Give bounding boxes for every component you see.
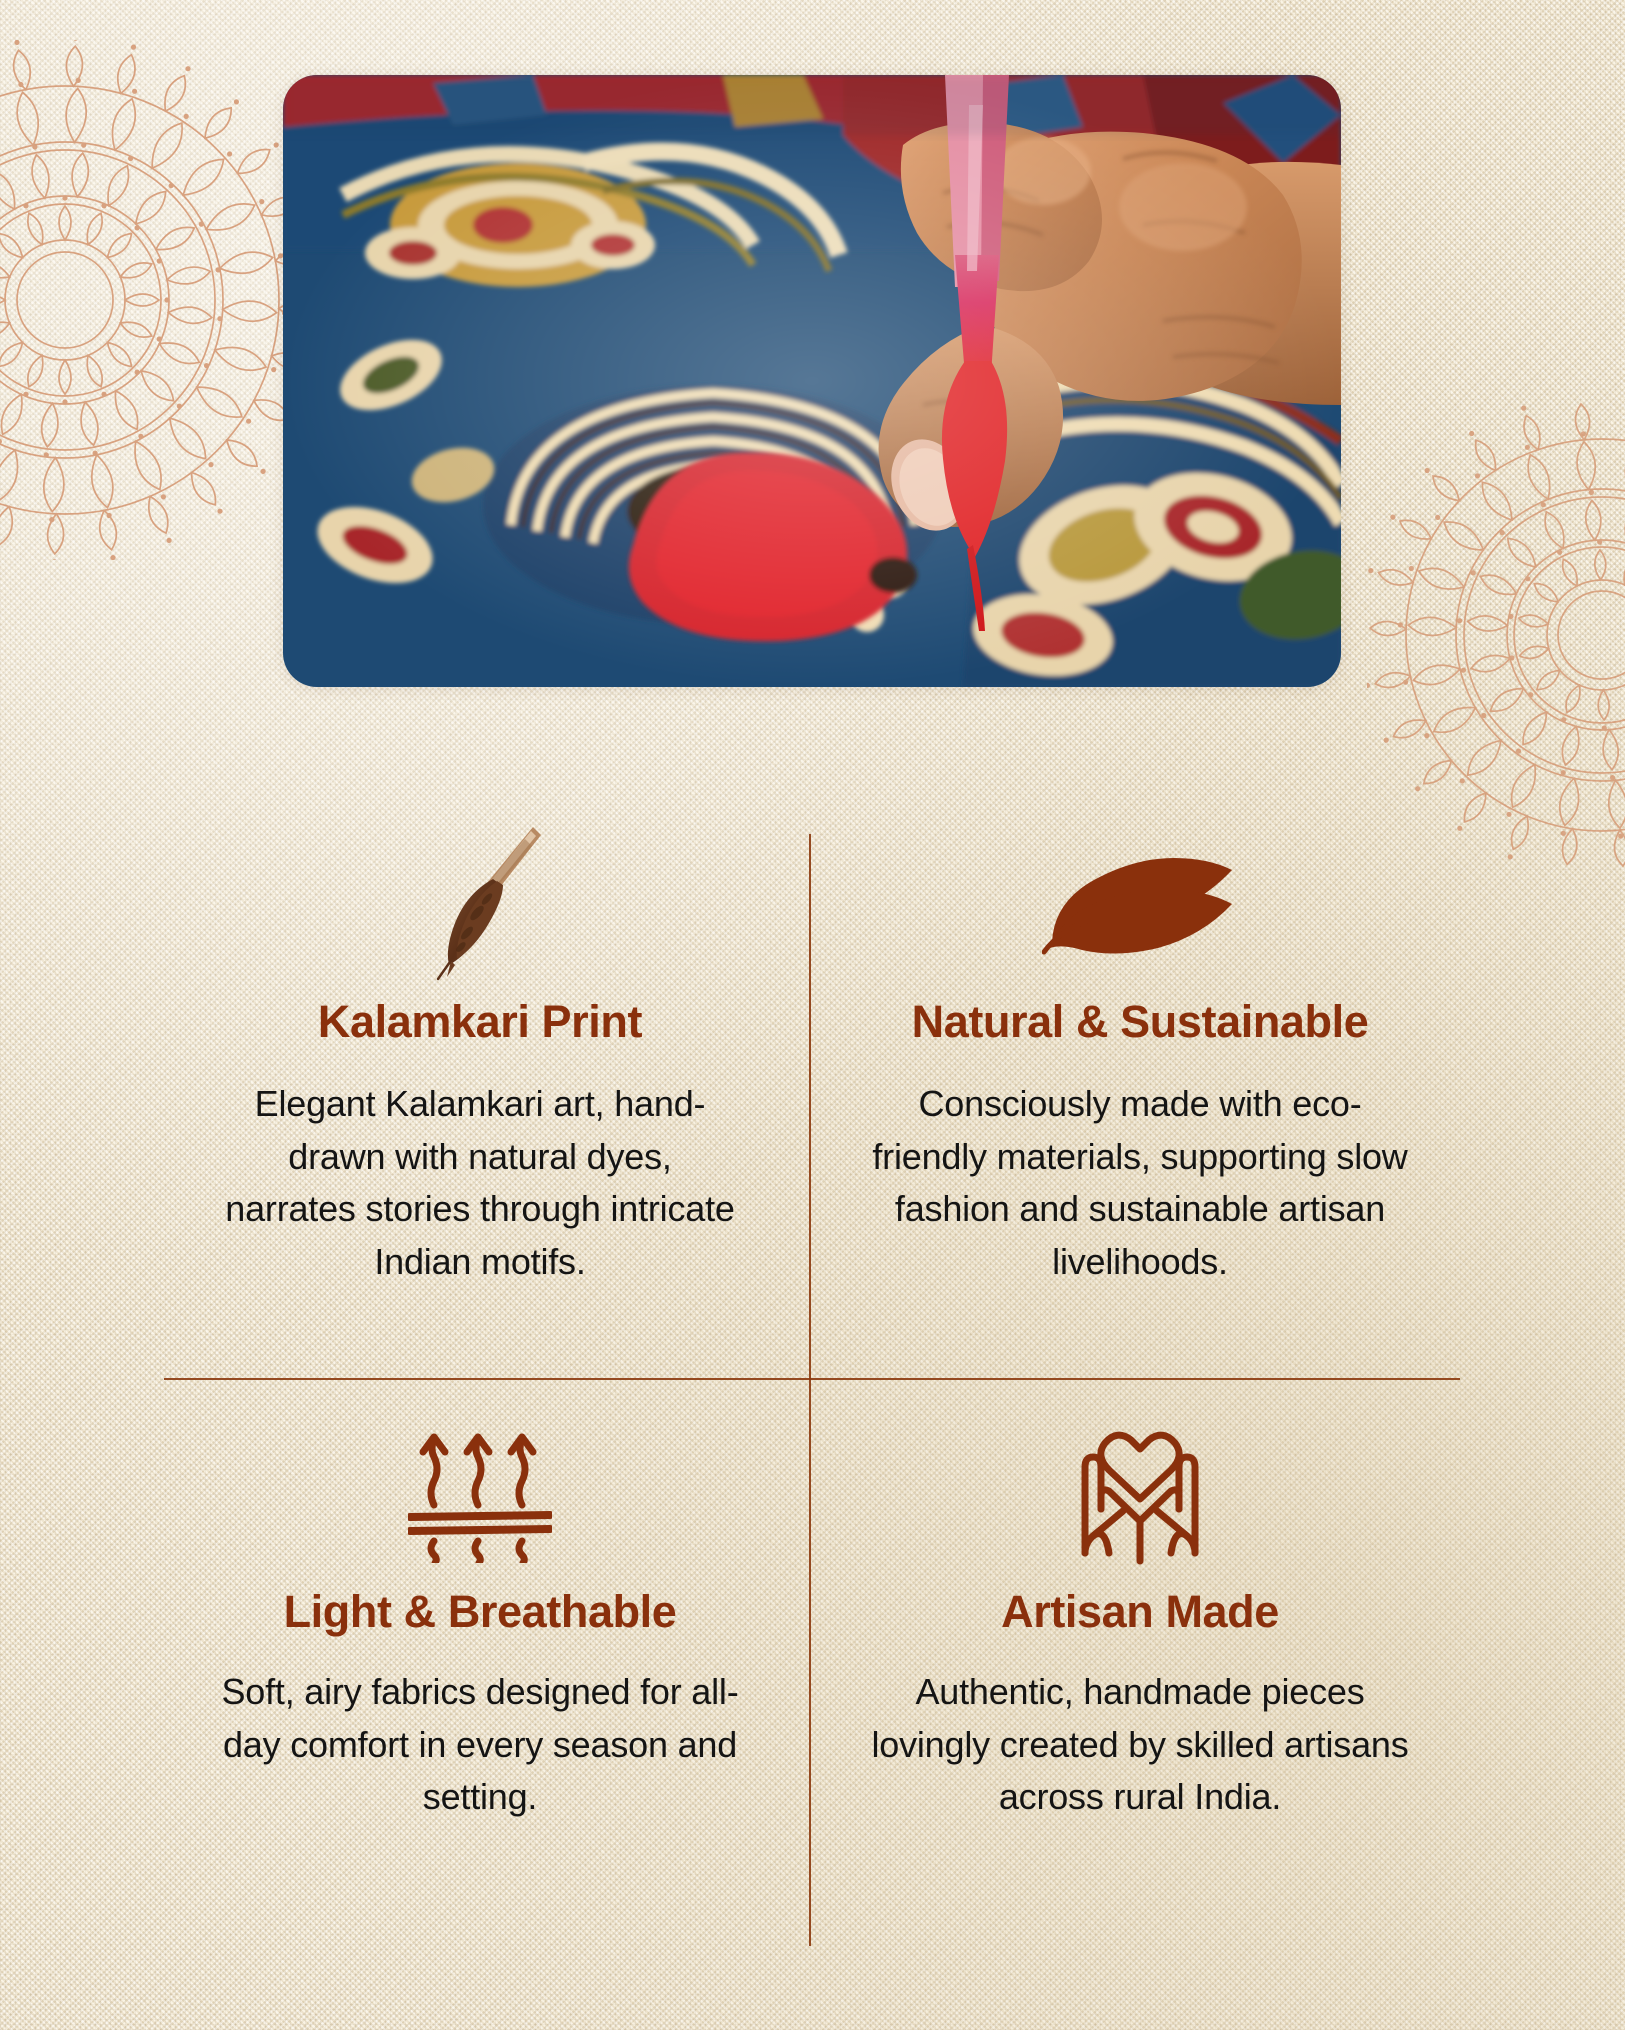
feature-grid: Kalamkari Print Elegant Kalamkari art, h… xyxy=(160,810,1460,1965)
hands-holding-heart-icon xyxy=(820,1408,1460,1580)
kalam-pen-icon xyxy=(160,810,800,990)
feature-card-artisan-made: Artisan Made Authentic, handmade pieces … xyxy=(820,1408,1460,1824)
feature-title: Natural & Sustainable xyxy=(820,996,1460,1048)
feature-card-light-breathable: Light & Breathable Soft, airy fabrics de… xyxy=(160,1408,800,1824)
leaf-icon xyxy=(820,810,1460,990)
grid-horizontal-divider xyxy=(164,1378,1460,1380)
feature-title: Kalamkari Print xyxy=(160,996,800,1048)
feature-card-natural-sustainable: Natural & Sustainable Consciously made w… xyxy=(820,810,1460,1288)
feature-title: Light & Breathable xyxy=(160,1586,800,1638)
hero-image-frame xyxy=(283,75,1341,687)
kalamkari-artisan-photo xyxy=(283,75,1341,687)
feature-title: Artisan Made xyxy=(820,1586,1460,1638)
breathable-airflow-icon xyxy=(160,1408,800,1580)
feature-description: Authentic, handmade pieces lovingly crea… xyxy=(820,1666,1460,1824)
feature-description: Elegant Kalamkari art, hand-drawn with n… xyxy=(160,1078,800,1288)
feature-card-kalamkari-print: Kalamkari Print Elegant Kalamkari art, h… xyxy=(160,810,800,1288)
feature-description: Consciously made with eco-friendly mater… xyxy=(820,1078,1460,1288)
grid-vertical-divider xyxy=(809,834,811,1946)
feature-description: Soft, airy fabrics designed for all-day … xyxy=(160,1666,800,1824)
